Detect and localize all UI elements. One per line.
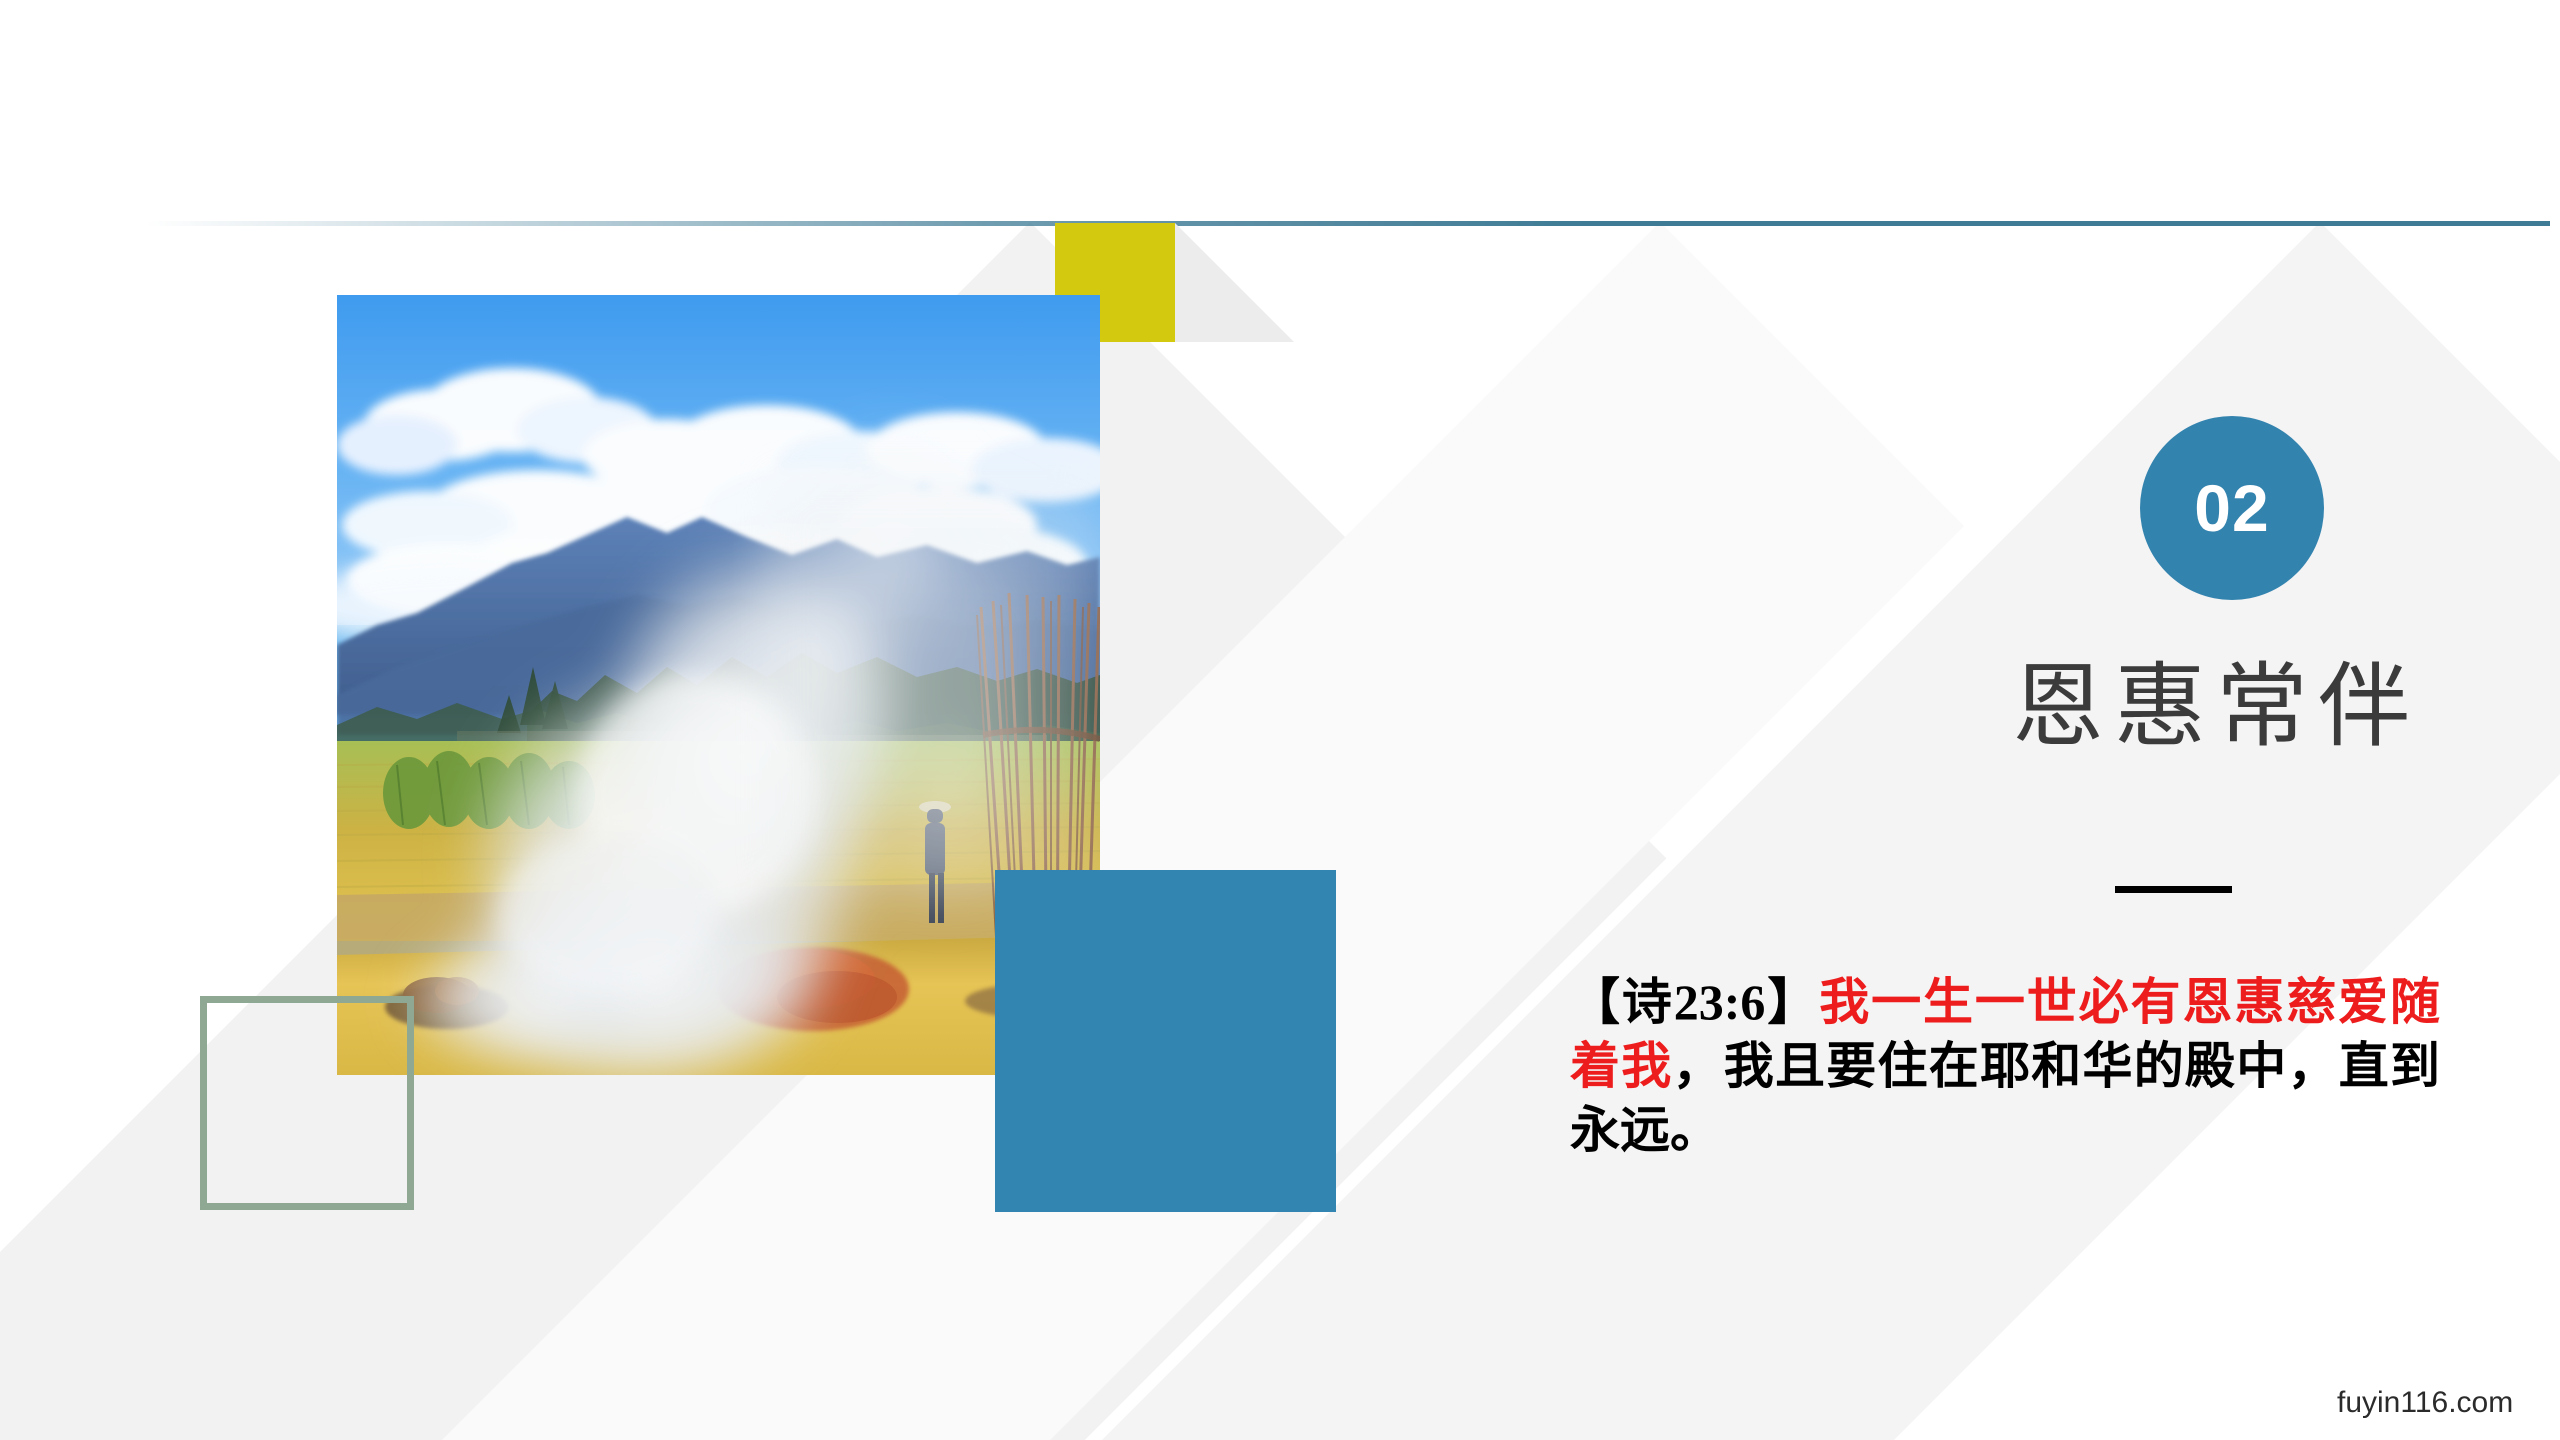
ribbon-mask-top <box>0 0 2560 223</box>
headline-block: 恩惠常伴 <box>1520 655 2440 761</box>
verse-remainder: ，我且要住在耶和华的殿中，直到永远。 <box>1570 1038 2440 1158</box>
section-number-label: 02 <box>2194 475 2269 541</box>
title-underline-rule <box>2115 886 2232 893</box>
field-photo <box>337 295 1100 1075</box>
slide-canvas: 02 恩惠常伴 【诗23:6】我一生一世必有恩惠慈爱随着我，我且要住在耶和华的殿… <box>0 0 2560 1440</box>
section-number-badge: 02 <box>2140 416 2324 600</box>
verse-reference: 【诗23:6】 <box>1570 974 1819 1030</box>
blue-accent-square <box>995 870 1336 1212</box>
yellow-square-shadow <box>1175 223 1294 342</box>
top-divider-rule <box>145 221 2550 226</box>
site-watermark: fuyin116.com <box>2337 1386 2513 1420</box>
page-title: 恩惠常伴 <box>1520 655 2440 761</box>
scripture-verse: 【诗23:6】我一生一世必有恩惠慈爱随着我，我且要住在耶和华的殿中，直到永远。 <box>1570 970 2440 1162</box>
green-outline-square <box>200 996 414 1210</box>
